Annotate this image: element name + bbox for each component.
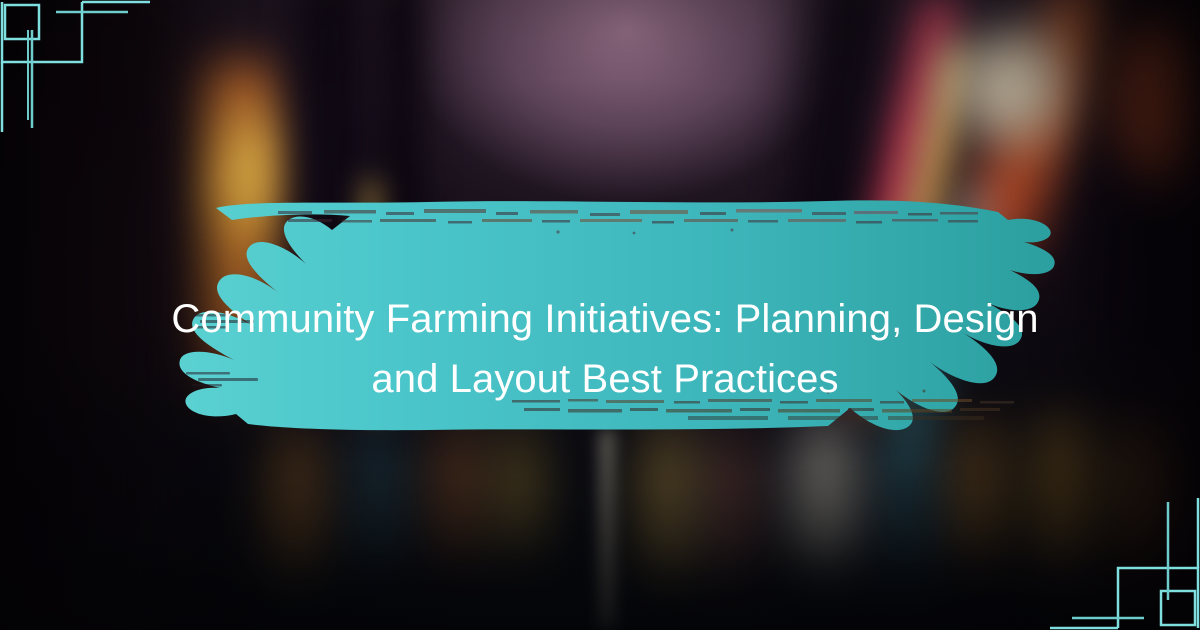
corner-bracket-icon-bottom-right: [1050, 480, 1200, 630]
corner-bracket-icon-top-left: [0, 0, 150, 150]
page-title: Community Farming Initiatives: Planning,…: [150, 289, 1060, 409]
social-share-card: Community Farming Initiatives: Planning,…: [0, 0, 1200, 630]
